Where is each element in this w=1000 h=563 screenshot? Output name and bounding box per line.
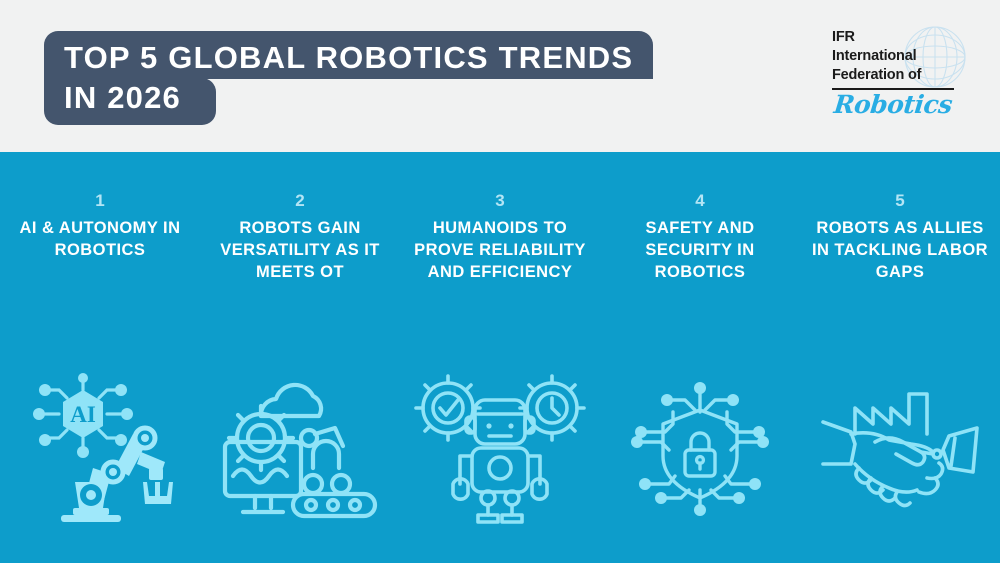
trend-heading: ROBOTS GAIN VERSATILITY AS IT MEETS OT: [210, 218, 390, 283]
trend-heading: SAFETY AND SECURITY IN ROBOTICS: [610, 218, 790, 283]
trend-column-2: 2 ROBOTS GAIN VERSATILITY AS IT MEETS OT: [200, 192, 400, 522]
cloud-monitor-conveyor-icon: [215, 372, 385, 522]
title-line-secondary: IN 2026: [44, 78, 216, 125]
logo-abbr: IFR: [832, 28, 921, 47]
trends-columns: 1 AI & AUTONOMY IN ROBOTICS AI: [0, 192, 1000, 522]
header-bar: TOP 5 GLOBAL ROBOTICS TRENDS IN 2026: [0, 0, 1000, 152]
ifr-logo[interactable]: IFR International Federation of Robotics: [832, 22, 972, 130]
trends-panel: 1 AI & AUTONOMY IN ROBOTICS AI: [0, 152, 1000, 563]
logo-name-2: Federation of: [832, 66, 921, 85]
trend-number: 4: [695, 192, 704, 209]
trend-number: 1: [95, 192, 104, 209]
trend-column-3: 3 HUMANOIDS TO PROVE RELIABILITY AND EFF…: [400, 192, 600, 522]
trend-number: 5: [895, 192, 904, 209]
logo-script-robotics: Robotics: [832, 90, 953, 119]
trend-number: 2: [295, 192, 304, 209]
title-line-primary: TOP 5 GLOBAL ROBOTICS TRENDS: [44, 31, 653, 79]
humanoid-robot-gears-icon: [415, 372, 585, 522]
trend-heading: HUMANOIDS TO PROVE RELIABILITY AND EFFIC…: [410, 218, 590, 283]
trend-column-1: 1 AI & AUTONOMY IN ROBOTICS AI: [0, 192, 200, 522]
trend-number: 3: [495, 192, 504, 209]
trend-heading: ROBOTS AS ALLIES IN TACKLING LABOR GAPS: [810, 218, 990, 283]
shield-padlock-circuit-icon: [615, 372, 785, 522]
svg-text:AI: AI: [70, 402, 96, 427]
trend-heading: AI & AUTONOMY IN ROBOTICS: [10, 218, 190, 262]
logo-wordmark: IFR International Federation of: [832, 28, 921, 85]
page-title: TOP 5 GLOBAL ROBOTICS TRENDS IN 2026: [44, 31, 744, 125]
trend-column-5: 5 ROBOTS AS ALLIES IN TACKLING LABOR GAP…: [800, 192, 1000, 522]
trend-column-4: 4 SAFETY AND SECURITY IN ROBOTICS: [600, 192, 800, 522]
handshake-factory-icon: [815, 372, 985, 522]
logo-name-1: International: [832, 47, 921, 66]
infographic-root: TOP 5 GLOBAL ROBOTICS TRENDS IN 2026: [0, 0, 1000, 563]
ai-robotic-arm-icon: AI: [15, 372, 185, 522]
